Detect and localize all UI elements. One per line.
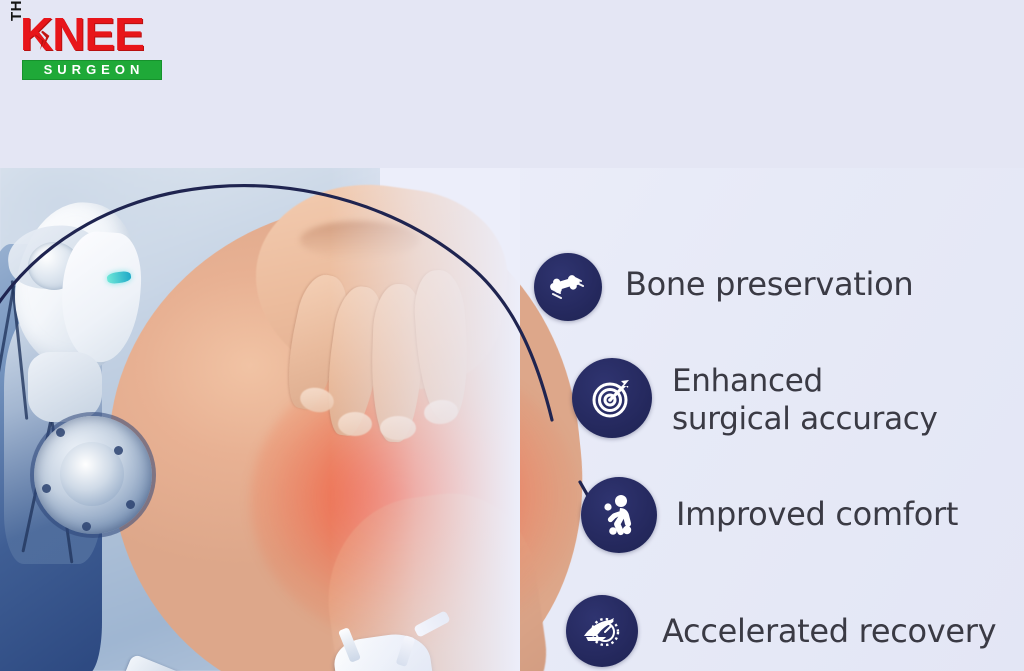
advantage-node-bone-preservation[interactable]: [534, 253, 602, 321]
speed-stopwatch-icon: [580, 609, 624, 653]
logo-surgeon-text: SURGEON: [23, 61, 161, 79]
photo-fade-overlay: [330, 166, 520, 671]
logo-surgeon-badge: SURGEON: [22, 60, 162, 80]
advantage-label-bone-preservation: Bone preservation: [625, 265, 913, 304]
robot-bolt: [126, 500, 135, 509]
advantage-node-improved-comfort[interactable]: [581, 477, 657, 553]
walking-person-icon: [596, 492, 642, 538]
advantage-node-accelerated-recovery[interactable]: [566, 595, 638, 667]
target-arrow-icon: [588, 374, 636, 422]
robot-bolt: [82, 522, 91, 531]
poster-root: Bone preservation Enhanced surgical accu…: [0, 0, 1024, 671]
bone-icon: [548, 267, 588, 307]
advantage-label-improved-comfort: Improved comfort: [676, 495, 958, 534]
robot-neck: [28, 352, 102, 422]
brand-logo[interactable]: THE KNEE SURGEON: [6, 8, 166, 80]
robot-bolt: [114, 446, 123, 455]
advantage-label-enhanced-surgical-accuracy: Enhanced surgical accuracy: [672, 363, 938, 439]
humanoid-robot: [0, 184, 194, 671]
robot-bolt: [42, 484, 51, 493]
advantage-label-accelerated-recovery: Accelerated recovery: [662, 612, 996, 651]
advantage-node-enhanced-surgical-accuracy[interactable]: [572, 358, 652, 438]
knee-joint-mark-icon: [30, 28, 56, 54]
robot-bolt: [56, 428, 65, 437]
